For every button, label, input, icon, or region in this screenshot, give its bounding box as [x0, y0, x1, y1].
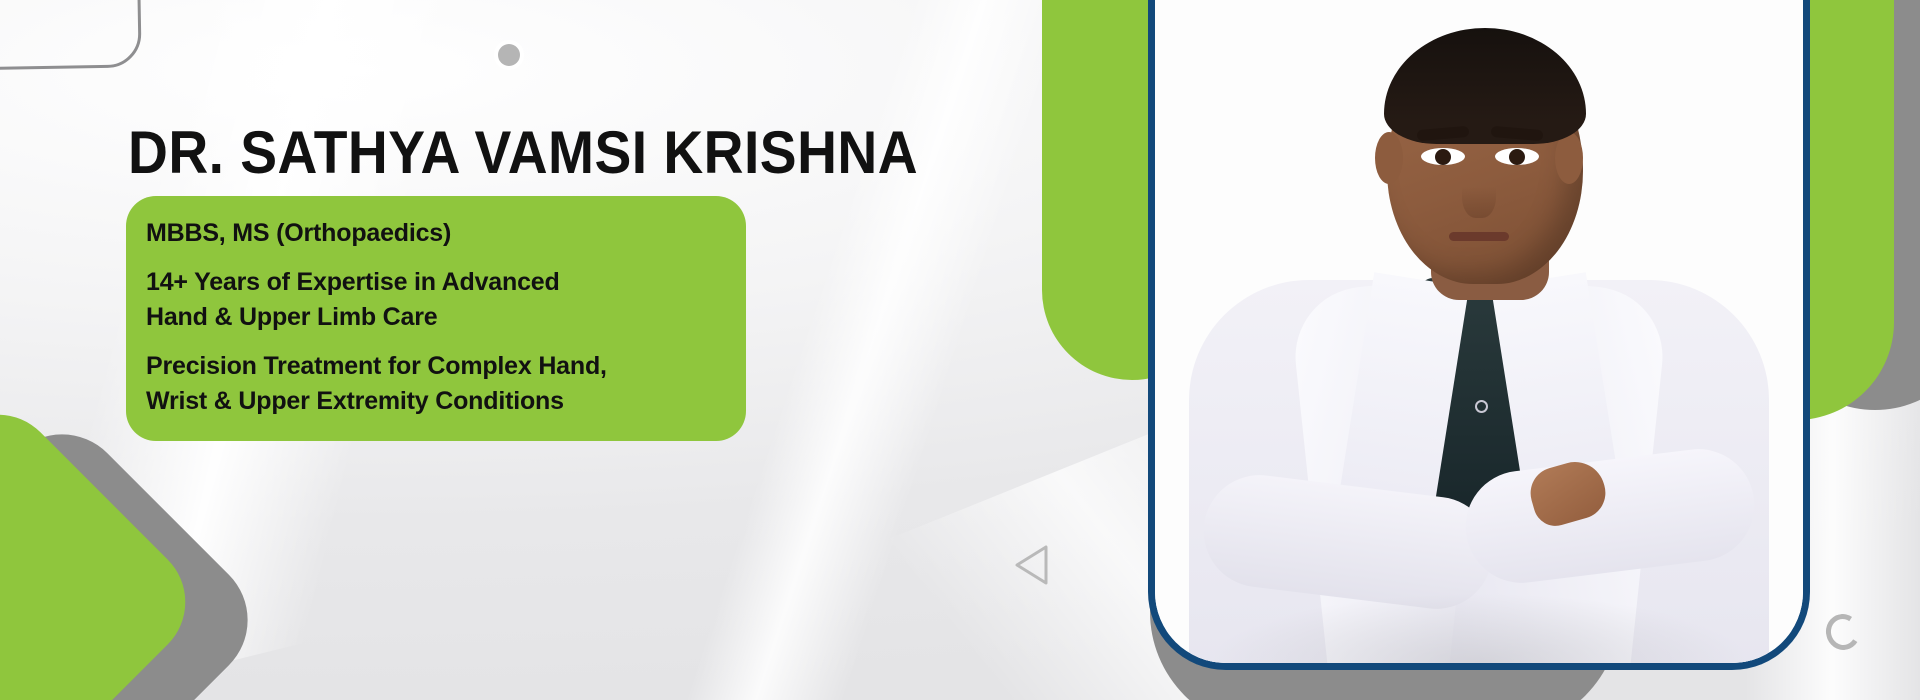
credential-line-treatment: Precision Treatment for Complex Hand, Wr…: [146, 349, 720, 419]
credential-line-qualification: MBBS, MS (Orthopaedics): [146, 216, 720, 251]
doctor-pupil-left: [1435, 149, 1451, 165]
doctor-eye-left: [1421, 148, 1465, 165]
credentials-card: MBBS, MS (Orthopaedics) 14+ Years of Exp…: [126, 196, 746, 441]
doctor-illustration: [1155, 0, 1803, 663]
slide-indicator-dot[interactable]: [498, 44, 520, 66]
decorative-arc-icon: [1823, 611, 1864, 653]
doctor-nose: [1462, 166, 1496, 218]
decorative-outline-rounded-rect: [0, 0, 142, 73]
banner-stage: DR. SATHYA VAMSI KRISHNA MBBS, MS (Ortho…: [0, 0, 1920, 700]
doctor-portrait-frame: [1148, 0, 1810, 670]
page-title: DR. SATHYA VAMSI KRISHNA: [128, 118, 918, 187]
doctor-portrait-image: [1155, 0, 1803, 663]
doctor-mouth: [1449, 232, 1509, 241]
doctor-ear-left: [1375, 132, 1403, 184]
portrait-floor-shadow: [1207, 593, 1751, 663]
doctor-pupil-right: [1509, 149, 1525, 165]
doctor-coat-button: [1475, 400, 1488, 413]
credential-line-experience: 14+ Years of Expertise in Advanced Hand …: [146, 265, 720, 335]
doctor-eye-right: [1495, 148, 1539, 165]
